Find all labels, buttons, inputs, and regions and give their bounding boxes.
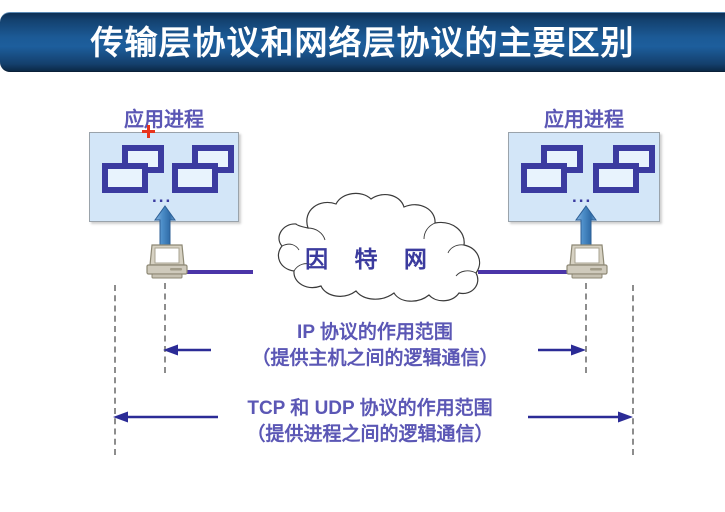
- ip-scope-arrow-right: [538, 343, 586, 357]
- host-computer-left: [140, 243, 194, 287]
- process-window-icon-right-2: [593, 145, 655, 193]
- app-process-label-left: 应用进程: [79, 103, 249, 132]
- ip-scope-line1: IP 协议的作用范围: [150, 320, 600, 346]
- ellipsis-right: ...: [572, 193, 592, 201]
- ip-scope-arrow-left: [163, 343, 211, 357]
- window-rect-front: [172, 163, 218, 193]
- red-plus-marker: [142, 125, 155, 138]
- app-process-label-right: 应用进程: [499, 103, 669, 132]
- ip-scope-line2: （提供主机之间的逻辑通信）: [150, 346, 600, 372]
- window-rect-front: [102, 163, 148, 193]
- host-computer-right: [560, 243, 614, 287]
- tcp-scope-arrow-left: [113, 410, 218, 424]
- process-window-icon-left-1: [102, 145, 164, 193]
- tcp-scope-arrow-right: [528, 410, 633, 424]
- ip-scope-text: IP 协议的作用范围 （提供主机之间的逻辑通信）: [150, 320, 600, 372]
- cloud-label: 因 特 网: [238, 240, 494, 274]
- slide-canvas: 传输层协议和网络层协议的主要区别 应用进程 ... 应用进程 ...: [0, 0, 725, 512]
- ellipsis-left: ...: [152, 193, 172, 201]
- tcp-scope-line2: （提供进程之间的逻辑通信）: [100, 422, 640, 448]
- page-title: 传输层协议和网络层协议的主要区别: [0, 13, 725, 73]
- process-window-icon-right-1: [521, 145, 583, 193]
- title-banner: 传输层协议和网络层协议的主要区别: [0, 12, 725, 72]
- window-rect-front: [521, 163, 567, 193]
- process-window-icon-left-2: [172, 145, 234, 193]
- window-rect-front: [593, 163, 639, 193]
